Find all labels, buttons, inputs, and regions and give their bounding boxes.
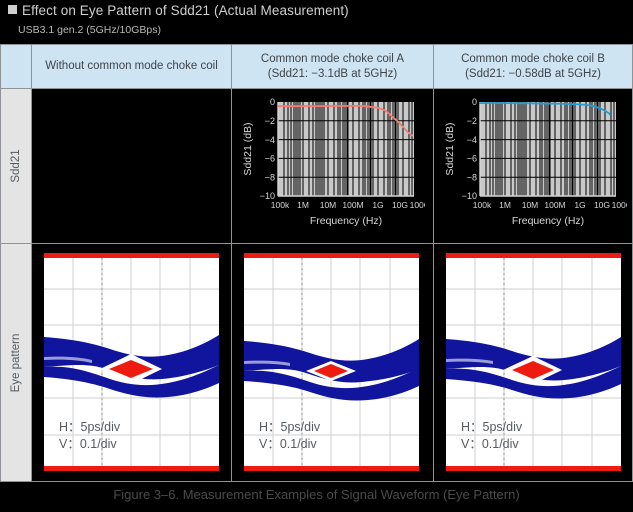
row-label-text: Sdd21 xyxy=(10,149,22,182)
svg-text:100G: 100G xyxy=(612,200,627,210)
svg-text:−8: −8 xyxy=(265,172,275,182)
page-title-text: Effect on Eye Pattern of Sdd21 (Actual M… xyxy=(22,3,349,18)
eye-pattern-coil-a: H：5ps/div V：0.1/div xyxy=(244,253,419,471)
x-tick-labels: 100k 1M 10M 100M 1G 10G 100G xyxy=(473,200,627,210)
svg-text:1M: 1M xyxy=(499,200,511,210)
y-axis-label: Sdd21 (dB) xyxy=(444,122,456,175)
x-tick-labels: 100k 1M 10M 100M 1G 10G 100G xyxy=(271,200,425,210)
svg-text:1G: 1G xyxy=(372,200,383,210)
eye-v-scale-label: V：0.1/div xyxy=(259,437,317,451)
eye-pattern-without-coil: H：5ps/div V：0.1/div xyxy=(44,253,219,471)
svg-text:100k: 100k xyxy=(473,200,492,210)
column-header-line1: Common mode choke coil B xyxy=(461,52,605,67)
cell-sdd21-without-coil xyxy=(32,89,231,243)
svg-text:1G: 1G xyxy=(574,200,585,210)
table-corner-cell xyxy=(1,45,31,88)
column-header-line1: Without common mode choke coil xyxy=(45,59,218,74)
svg-text:10M: 10M xyxy=(522,200,539,210)
eye-v-scale-label: V：0.1/div xyxy=(461,437,519,451)
svg-text:−2: −2 xyxy=(265,116,275,126)
svg-text:0: 0 xyxy=(472,97,477,107)
table-rule-bottom xyxy=(0,481,633,482)
row-label-eye-pattern: Eye pattern xyxy=(1,244,31,481)
eye-limit-upper xyxy=(44,253,219,258)
column-header-line2: (Sdd21: −0.58dB at 5GHz) xyxy=(465,67,601,82)
square-bullet-icon xyxy=(8,5,17,14)
page-title: Effect on Eye Pattern of Sdd21 (Actual M… xyxy=(8,3,349,18)
svg-text:−6: −6 xyxy=(265,154,275,164)
eye-h-scale-label: H：5ps/div xyxy=(259,420,321,434)
figure-caption: Figure 3–6. Measurement Examples of Sign… xyxy=(0,487,633,502)
sdd21-chart-coil-b-svg: 0 −2 −4 −6 −8 −10 100k 1M 10M 100M 1G 10… xyxy=(442,94,627,239)
y-tick-labels: 0 −2 −4 −6 −8 −10 xyxy=(462,97,477,201)
row-label-sdd21: Sdd21 xyxy=(1,89,31,243)
svg-text:1M: 1M xyxy=(297,200,309,210)
figure-header: Effect on Eye Pattern of Sdd21 (Actual M… xyxy=(0,0,633,44)
svg-text:−6: −6 xyxy=(467,154,477,164)
svg-text:100k: 100k xyxy=(271,200,290,210)
eye-limit-lower xyxy=(244,466,419,471)
eye-pattern-coil-b-svg: H：5ps/div V：0.1/div xyxy=(446,253,621,471)
svg-text:−8: −8 xyxy=(467,172,477,182)
column-header-without-coil: Without common mode choke coil xyxy=(32,45,231,88)
svg-text:10G: 10G xyxy=(594,200,610,210)
eye-limit-upper xyxy=(244,253,419,258)
y-tick-labels: 0 −2 −4 −6 −8 −10 xyxy=(260,97,275,201)
column-header-line1: Common mode choke coil A xyxy=(261,52,404,67)
cell-eye-coil-a: H：5ps/div V：0.1/div xyxy=(232,244,433,481)
svg-text:10G: 10G xyxy=(392,200,408,210)
column-header-coil-b: Common mode choke coil B (Sdd21: −0.58dB… xyxy=(434,45,632,88)
svg-text:0: 0 xyxy=(270,97,275,107)
sdd21-chart-coil-a: 0 −2 −4 −6 −8 −10 100k 1M 10M 100M 1G xyxy=(240,94,425,239)
eye-pattern-without-coil-svg: H：5ps/div V：0.1/div xyxy=(44,253,219,471)
svg-text:100M: 100M xyxy=(544,200,565,210)
eye-limit-upper xyxy=(446,253,621,258)
cell-sdd21-coil-a: 0 −2 −4 −6 −8 −10 100k 1M 10M 100M 1G xyxy=(232,89,433,243)
eye-h-scale-label: H：5ps/div xyxy=(461,420,523,434)
eye-pattern-coil-b: H：5ps/div V：0.1/div xyxy=(446,253,621,471)
cell-sdd21-coil-b: 0 −2 −4 −6 −8 −10 100k 1M 10M 100M 1G 10… xyxy=(434,89,632,243)
svg-text:−4: −4 xyxy=(265,135,275,145)
y-axis-label: Sdd21 (dB) xyxy=(242,122,254,175)
x-axis-label: Frequency (Hz) xyxy=(512,215,584,227)
svg-text:100M: 100M xyxy=(342,200,363,210)
row-label-text: Eye pattern xyxy=(10,333,22,392)
eye-v-scale-label: V：0.1/div xyxy=(59,437,117,451)
comparison-table: Without common mode choke coil Common mo… xyxy=(0,44,633,482)
eye-pattern-coil-a-svg: H：5ps/div V：0.1/div xyxy=(244,253,419,471)
eye-limit-lower xyxy=(44,466,219,471)
cell-eye-without-coil: H：5ps/div V：0.1/div xyxy=(32,244,231,481)
svg-text:10M: 10M xyxy=(320,200,337,210)
figure-page: Effect on Eye Pattern of Sdd21 (Actual M… xyxy=(0,0,633,512)
x-axis-label: Frequency (Hz) xyxy=(310,215,382,227)
column-header-line2: (Sdd21: −3.1dB at 5GHz) xyxy=(268,67,397,82)
sdd21-chart-coil-b: 0 −2 −4 −6 −8 −10 100k 1M 10M 100M 1G 10… xyxy=(442,94,627,239)
cell-eye-coil-b: H：5ps/div V：0.1/div xyxy=(434,244,632,481)
sdd21-chart-coil-a-svg: 0 −2 −4 −6 −8 −10 100k 1M 10M 100M 1G xyxy=(240,94,425,239)
svg-text:−2: −2 xyxy=(467,116,477,126)
eye-limit-lower xyxy=(446,466,621,471)
page-subtitle: USB3.1 gen.2 (5GHz/10GBps) xyxy=(18,24,161,36)
eye-h-scale-label: H：5ps/div xyxy=(59,420,121,434)
svg-text:100G: 100G xyxy=(410,200,425,210)
column-header-coil-a: Common mode choke coil A (Sdd21: −3.1dB … xyxy=(232,45,433,88)
svg-text:−4: −4 xyxy=(467,135,477,145)
x-minor-gridlines xyxy=(486,102,614,196)
